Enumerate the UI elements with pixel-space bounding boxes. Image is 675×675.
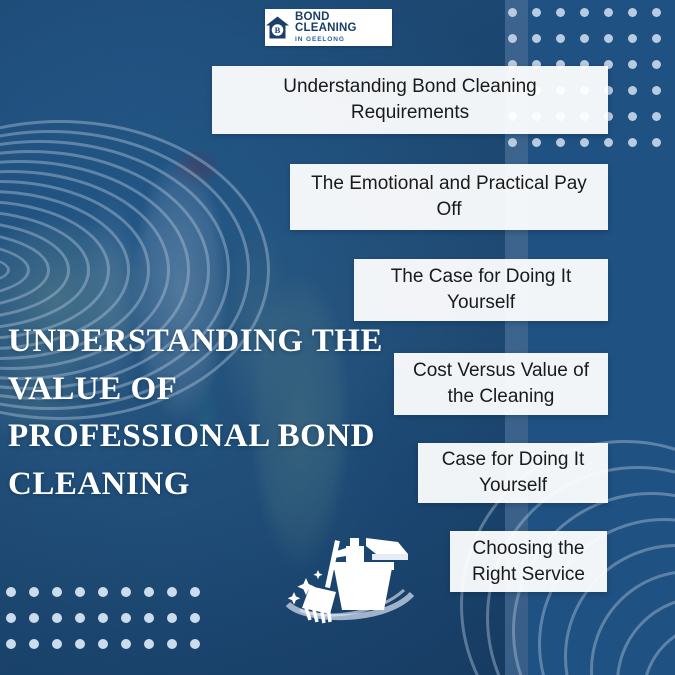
grid-dot [628,86,637,95]
grid-dot [628,112,637,121]
topic-card[interactable]: Understanding Bond Cleaning Requirements [212,66,608,134]
topic-card[interactable]: Case for Doing It Yourself [418,443,608,503]
grid-dot [52,639,62,649]
grid-dot [652,86,661,95]
grid-dot [52,587,62,597]
grid-dot [532,34,541,43]
house-with-b-icon: B [265,15,290,40]
grid-dot [628,138,637,147]
grid-dot [167,613,177,623]
grid-dot [121,613,131,623]
grid-dot [532,8,541,17]
grid-dot [52,613,62,623]
topic-card[interactable]: The Case for Doing It Yourself [354,259,608,321]
grid-dot [29,613,39,623]
grid-dot [652,8,661,17]
grid-dot [144,639,154,649]
grid-dot [75,613,85,623]
grid-dot [6,587,16,597]
grid-dot [652,60,661,69]
grid-dot [29,639,39,649]
grid-dot [508,138,517,147]
grid-dot [6,613,16,623]
logo-wordmark: BOND CLEANING IN GEELONG [295,12,392,44]
logo-subtitle: IN GEELONG [295,37,392,44]
grid-dot [604,8,613,17]
grid-dot [556,138,565,147]
grid-dot [75,639,85,649]
grid-dot [167,639,177,649]
grid-dot [580,34,589,43]
grid-dot [144,613,154,623]
topic-card[interactable]: The Emotional and Practical Pay Off [290,164,608,230]
grid-dot [190,587,200,597]
grid-dot [628,8,637,17]
grid-dot [167,587,177,597]
grid-dot [628,34,637,43]
grid-dot [652,138,661,147]
topic-card[interactable]: Choosing the Right Service [450,531,607,592]
grid-dot [508,34,517,43]
page-title: Understanding the Value of Professional … [8,318,388,508]
infographic-poster: B BOND CLEANING IN GEELONG Understanding… [0,0,675,675]
grid-dot [652,34,661,43]
grid-dot [604,138,613,147]
grid-dot [190,639,200,649]
grid-dot [580,8,589,17]
logo-title: BOND CLEANING [295,12,392,35]
grid-dot [580,138,589,147]
grid-dot [75,587,85,597]
grid-dot [29,587,39,597]
topic-card[interactable]: Cost Versus Value of the Cleaning [394,353,608,415]
grid-dot [98,587,108,597]
svg-text:B: B [275,25,281,35]
broom-spray-bucket-squeegee-icon [280,516,420,628]
grid-dot [6,639,16,649]
grid-dot [652,112,661,121]
grid-dot [604,34,613,43]
grid-dot [144,587,154,597]
grid-dot [508,8,517,17]
grid-dot [98,613,108,623]
dot-grid-icon [6,587,216,657]
grid-dot [556,34,565,43]
grid-dot [628,60,637,69]
grid-dot [121,639,131,649]
grid-dot [121,587,131,597]
grid-dot [98,639,108,649]
brand-logo[interactable]: B BOND CLEANING IN GEELONG [265,9,392,46]
grid-dot [556,8,565,17]
grid-dot [190,613,200,623]
grid-dot [532,138,541,147]
